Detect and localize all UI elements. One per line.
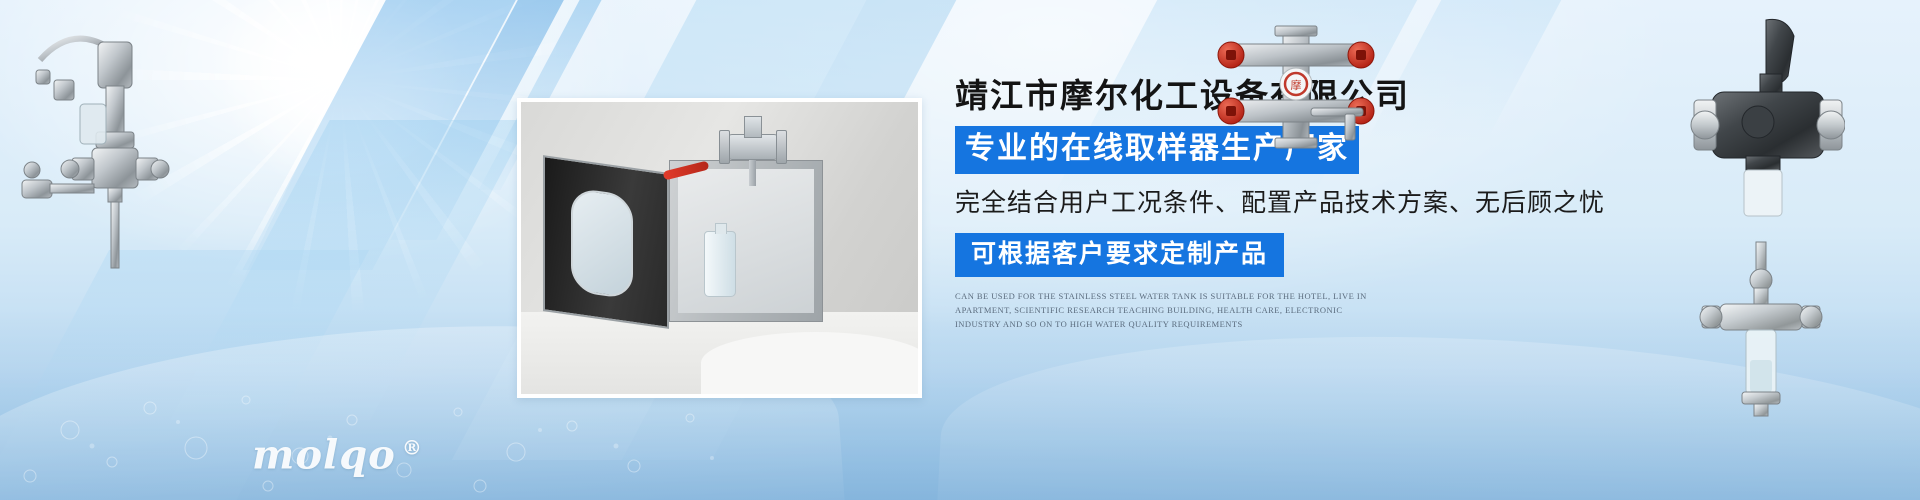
watermark-logo: molqo® xyxy=(252,432,423,479)
product-photo-sampler-cabinet xyxy=(517,98,922,398)
photo-pedestal xyxy=(701,332,922,394)
right-equipment-flanged-valve-body xyxy=(1660,14,1845,224)
right-equipment-christmas-tree-valve-manifold: 摩 xyxy=(1205,22,1385,152)
watermark-text: molqo xyxy=(252,432,396,479)
right-equipment-sight-glass-sampler xyxy=(1690,240,1840,420)
photo-cabinet-body xyxy=(669,160,823,322)
english-description: CAN BE USED FOR THE STAINLESS STEEL WATE… xyxy=(955,289,1375,331)
photo-valve-flange-left xyxy=(719,130,730,164)
svg-text:摩: 摩 xyxy=(1291,78,1302,92)
promotional-banner: 靖江市摩尔化工设备有限公司 专业的在线取样器生产厂家 完全结合用户工况条件、配置… xyxy=(0,0,1920,500)
tagline-secondary: 完全结合用户工况条件、配置产品技术方案、无后顾之忧 xyxy=(955,188,1515,219)
photo-valve-flange-right xyxy=(776,130,787,164)
photo-valve-bonnet xyxy=(744,116,762,138)
photo-sample-bottle xyxy=(704,231,736,297)
photo-cabinet-interior xyxy=(678,169,814,313)
photo-cabinet-door xyxy=(543,155,669,329)
photo-valve-stem xyxy=(749,160,756,186)
photo-door-window xyxy=(571,187,633,300)
watermark-registered-mark: ® xyxy=(402,435,423,459)
tagline-custom-badge: 可根据客户要求定制产品 xyxy=(955,233,1284,277)
left-equipment-sampling-valve-assembly xyxy=(10,20,180,280)
